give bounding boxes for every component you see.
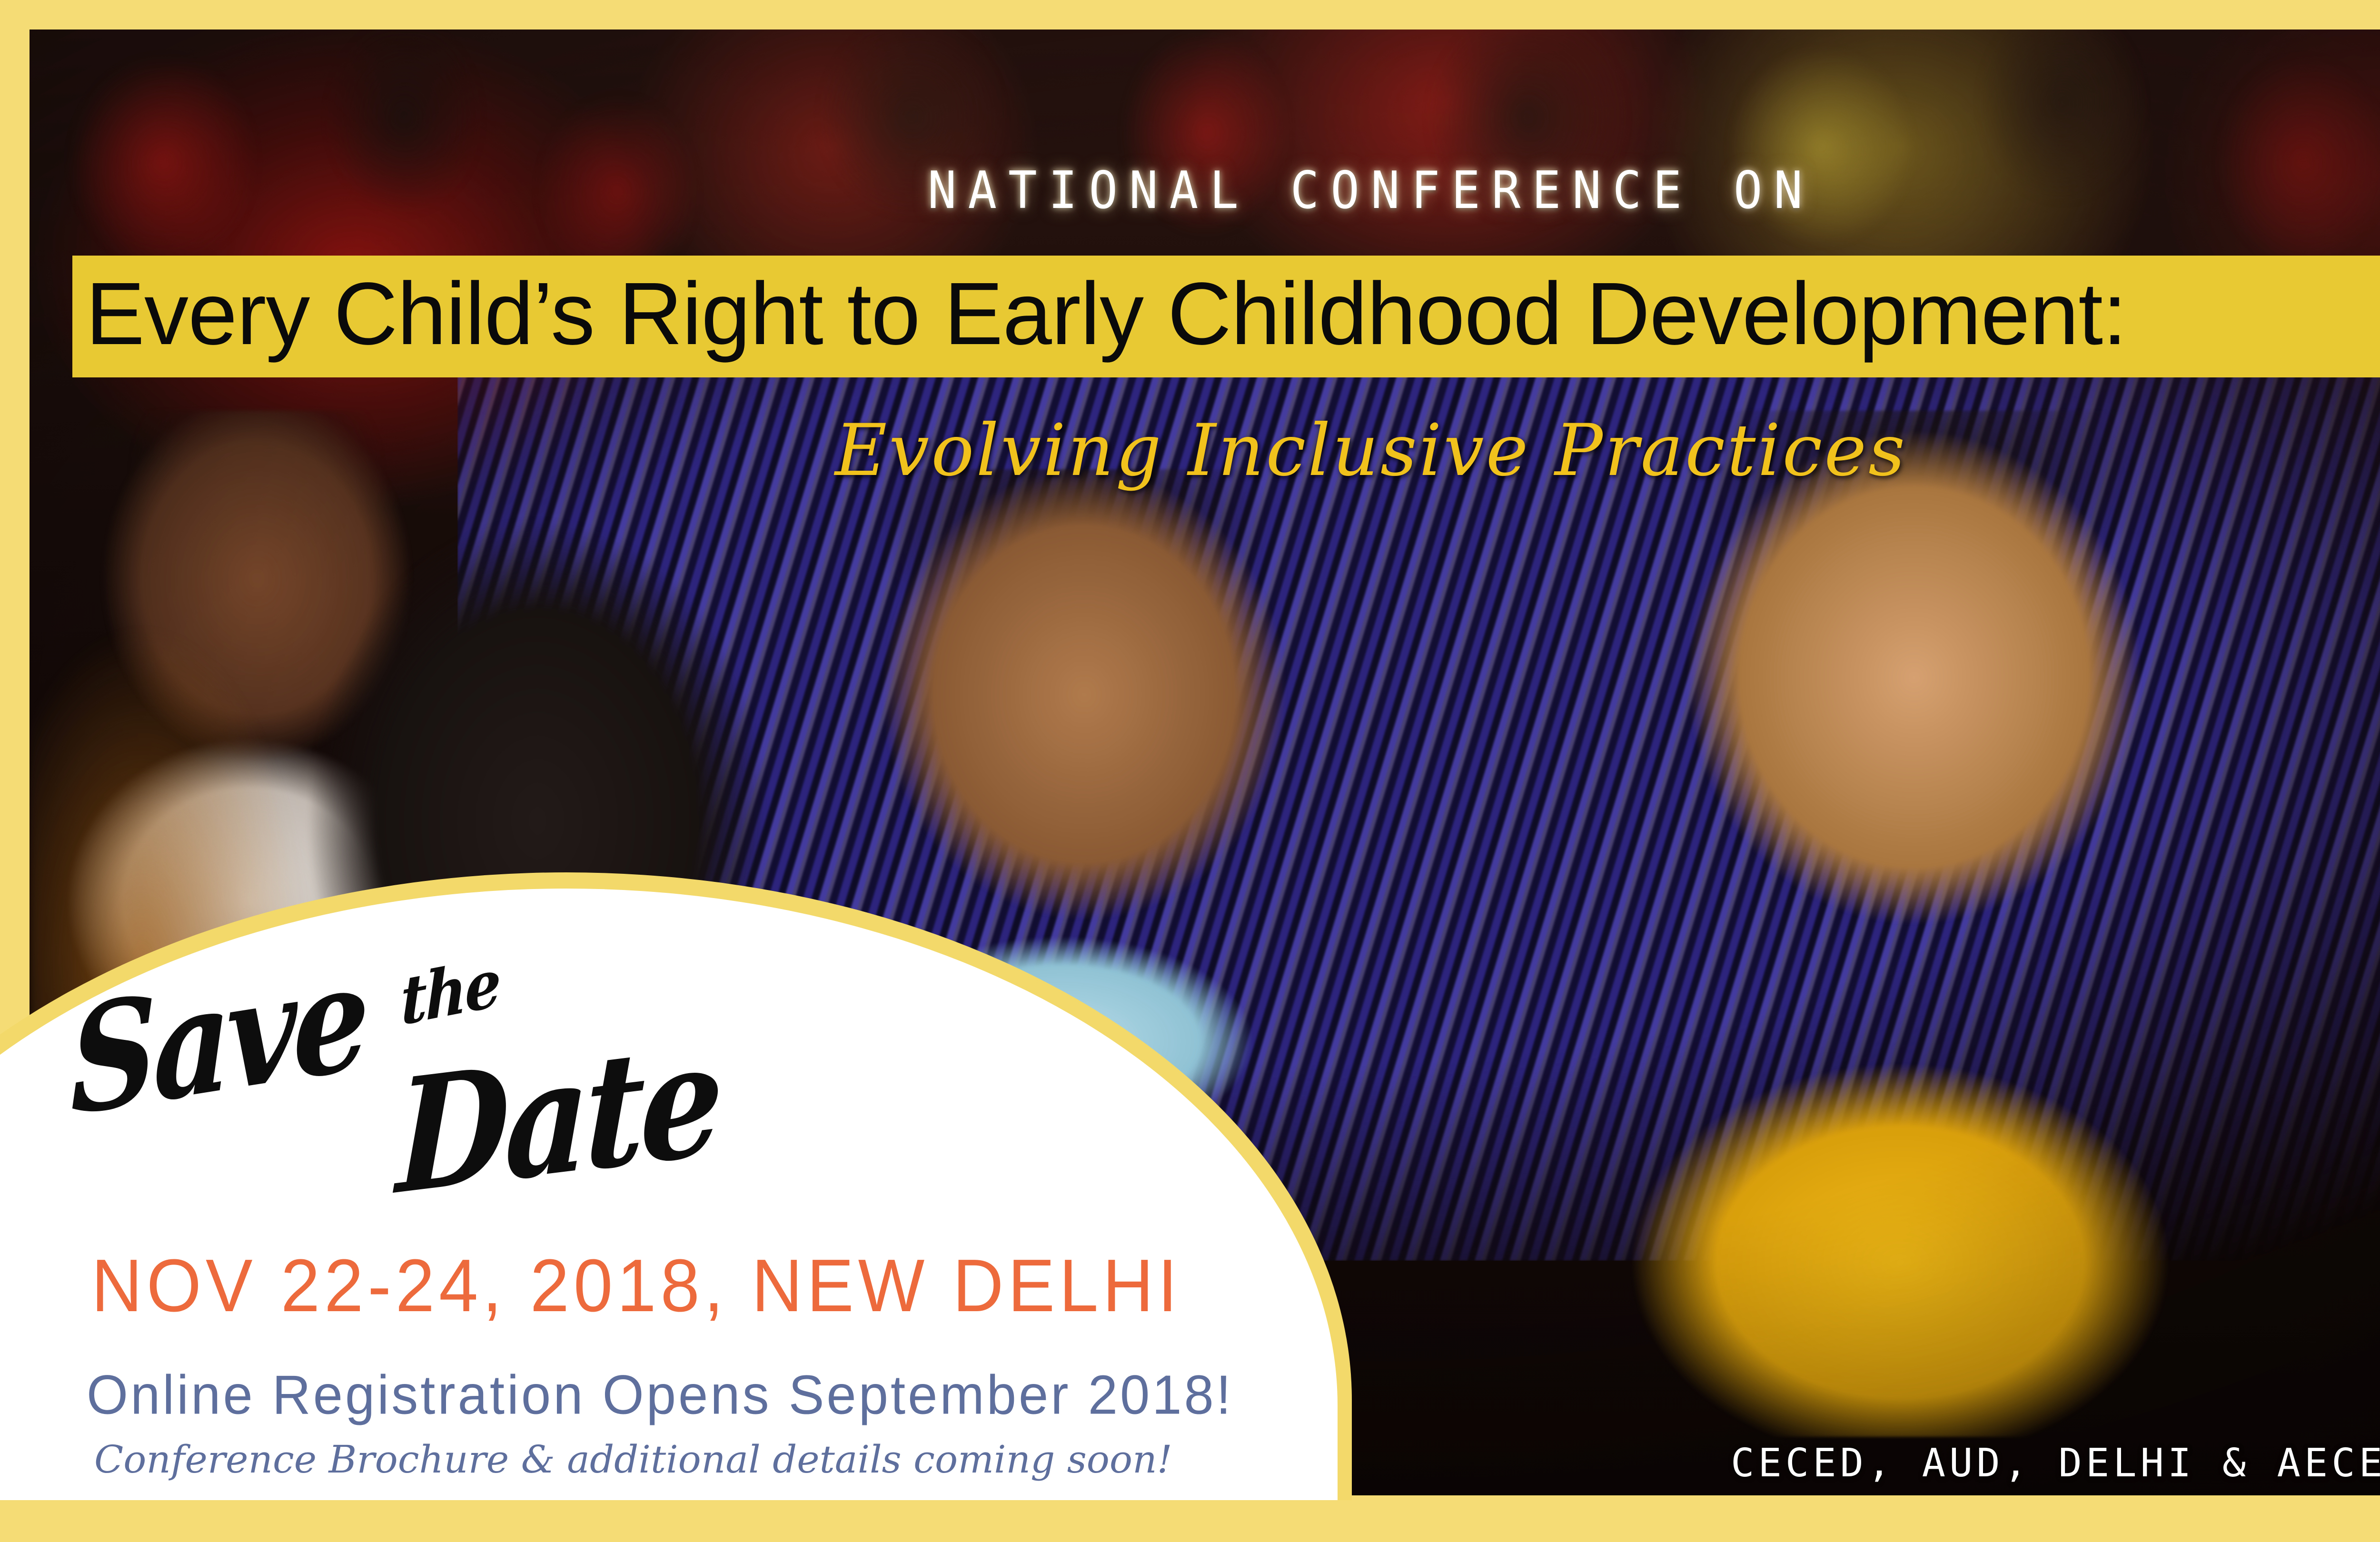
page-subtitle: Evolving Inclusive Practices: [0, 409, 2380, 492]
poster-root: NATIONAL CONFERENCE ON Every Child’s Rig…: [0, 0, 2380, 1542]
save-the-date-word-date: Date: [395, 1007, 720, 1230]
save-the-date-script: Save the Date: [67, 933, 876, 1218]
save-the-date-word-save: Save: [69, 930, 367, 1148]
save-the-date-word-the: the: [400, 943, 500, 1040]
registration-notice: Online Registration Opens September 2018…: [87, 1363, 1233, 1426]
event-date-location: NOV 22-24, 2018, NEW DELHI: [91, 1243, 1181, 1329]
conference-kicker: NATIONAL CONFERENCE ON: [96, 161, 2380, 220]
organizers-label: Organized by:: [1731, 1390, 2380, 1430]
brochure-notice: Conference Brochure & additional details…: [94, 1437, 1172, 1482]
page-title: Every Child’s Right to Early Childhood D…: [72, 270, 2380, 363]
organizers-block: Organized by: CECED, AUD, DELHI & AECED,…: [1731, 1390, 2380, 1486]
title-banner: Every Child’s Right to Early Childhood D…: [72, 256, 2380, 377]
organizers-names: CECED, AUD, DELHI & AECED, NATIONAL: [1731, 1441, 2380, 1486]
